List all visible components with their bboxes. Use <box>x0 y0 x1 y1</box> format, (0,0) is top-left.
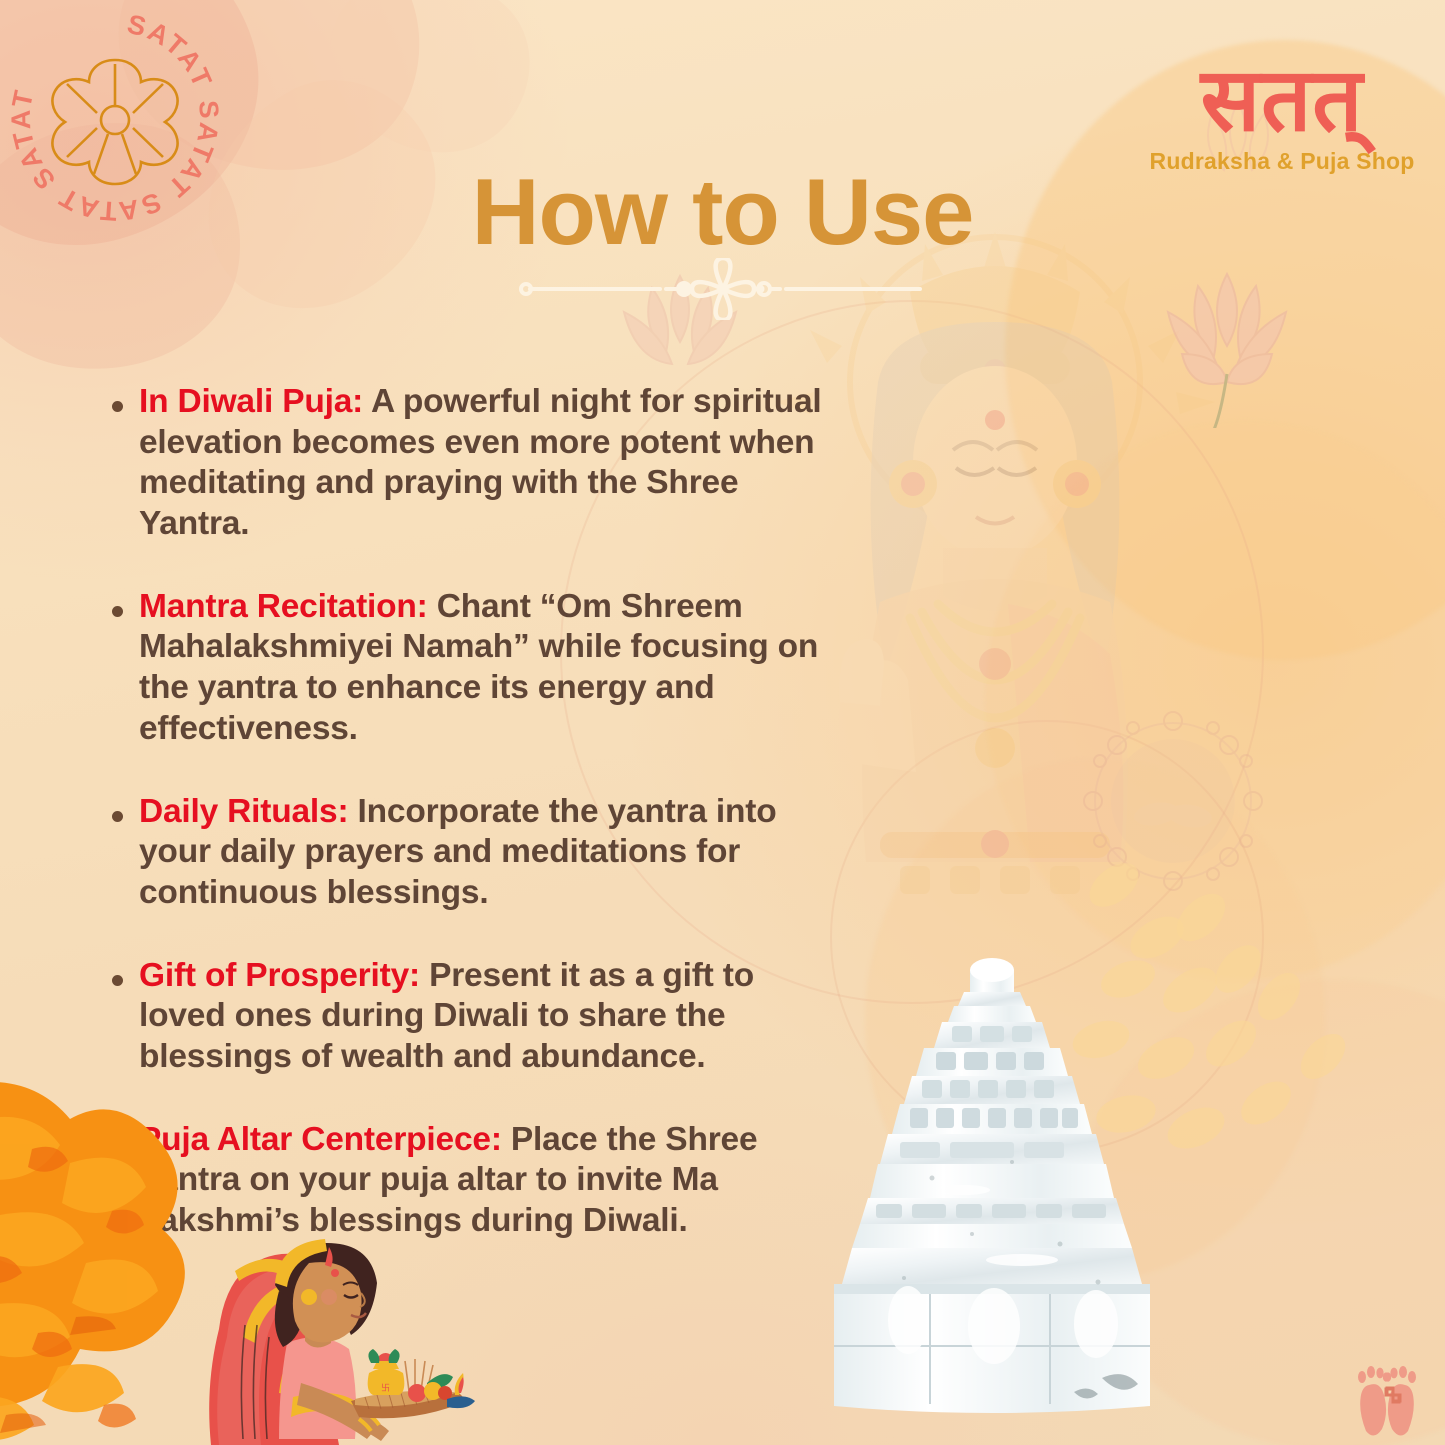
ornamental-divider <box>488 258 958 320</box>
bullet-dot-icon <box>112 401 123 412</box>
list-item: In Diwali Puja: A powerful night for spi… <box>112 382 822 545</box>
list-item-text: Gift of Prosperity: Present it as a gift… <box>139 956 822 1078</box>
bullet-dot-icon <box>112 975 123 986</box>
warm-glow-2 <box>985 420 1445 980</box>
coin <box>1249 965 1308 1028</box>
coin <box>1198 1011 1265 1075</box>
goddess-lakshmi-illustration <box>760 232 1230 972</box>
coin <box>1168 885 1234 950</box>
logo-devanagari-text: सतत् <box>1147 58 1417 142</box>
list-item-text: Mantra Recitation: Chant “Om Shreem Maha… <box>139 587 822 750</box>
lotus-flower-outline <box>1152 268 1302 428</box>
coin <box>1207 937 1270 1001</box>
coin <box>1292 1026 1353 1088</box>
decorative-medallion <box>1078 706 1268 896</box>
coin <box>1081 854 1146 915</box>
page-title: How to Use <box>0 158 1445 266</box>
list-item: Gift of Prosperity: Present it as a gift… <box>112 956 822 1078</box>
poster-canvas: SATAT SATAT SATAT SATAT सतत् Rudraksha &… <box>0 0 1445 1445</box>
lakshmi-footprints-swastika-icon <box>1347 1361 1433 1437</box>
list-item-heading: In Diwali Puja: <box>139 383 363 420</box>
list-item-heading: Mantra Recitation: <box>139 588 428 625</box>
list-item: Daily Rituals: Incorporate the yantra in… <box>112 792 822 914</box>
list-item: Mantra Recitation: Chant “Om Shreem Maha… <box>112 587 822 750</box>
coin <box>1233 1073 1298 1133</box>
bullet-dot-icon <box>112 811 123 822</box>
list-item-text: Daily Rituals: Incorporate the yantra in… <box>139 792 822 914</box>
list-item-text: In Diwali Puja: A powerful night for spi… <box>139 382 822 545</box>
list-item-heading: Daily Rituals: <box>139 793 348 830</box>
bullet-dot-icon <box>112 606 123 617</box>
svg-text:卐: 卐 <box>381 1383 390 1393</box>
woman-holding-puja-thali: 卐 <box>183 1233 475 1445</box>
list-item-heading: Gift of Prosperity: <box>139 957 420 994</box>
crystal-shree-yantra-product <box>812 948 1172 1413</box>
